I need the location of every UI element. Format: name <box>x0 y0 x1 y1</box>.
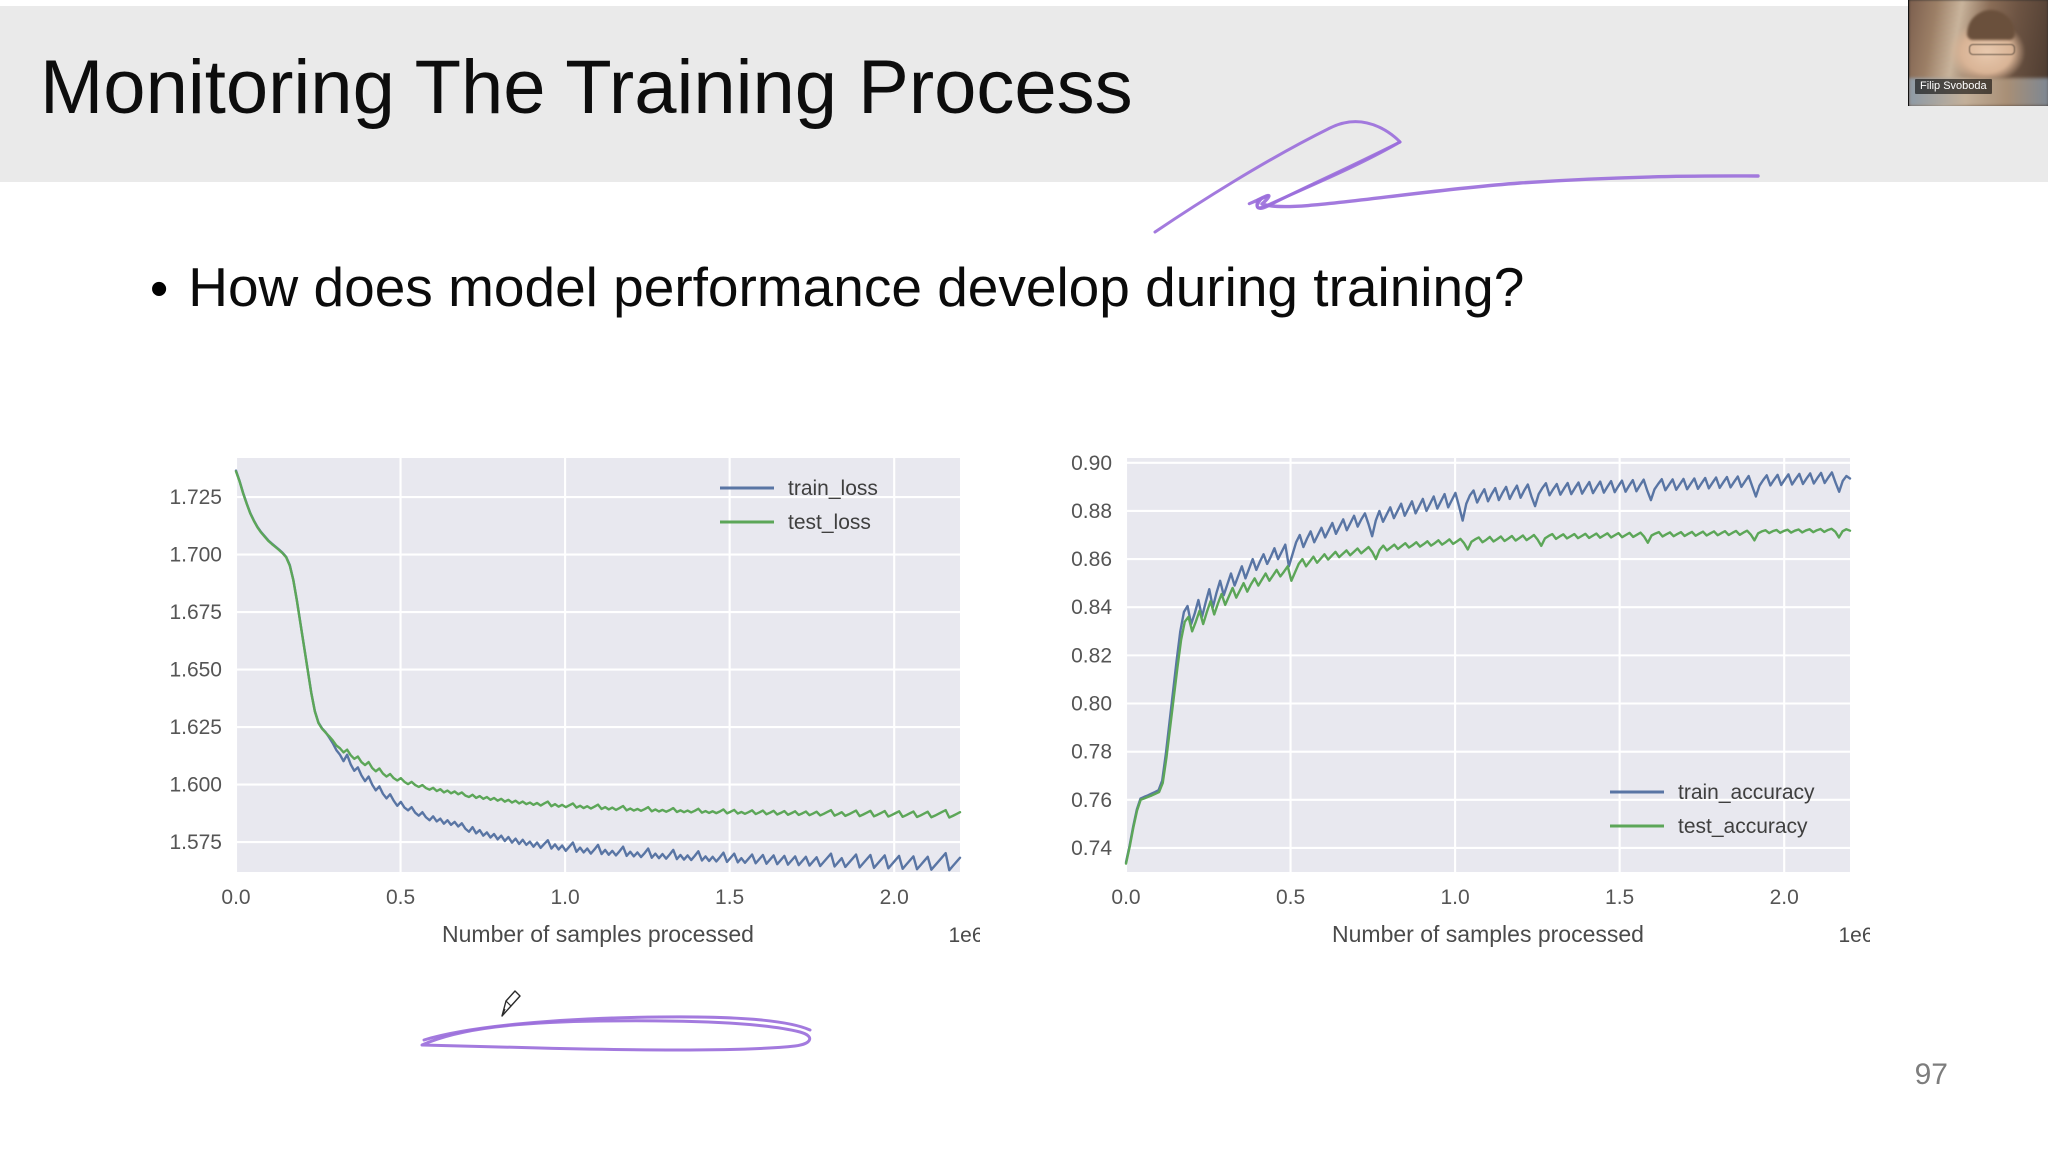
page-number: 97 <box>1915 1058 1948 1092</box>
svg-text:1.625: 1.625 <box>169 716 222 739</box>
svg-text:1.725: 1.725 <box>169 486 222 509</box>
svg-text:1.5: 1.5 <box>1605 886 1634 909</box>
svg-text:0.88: 0.88 <box>1071 500 1112 523</box>
svg-text:test_accuracy: test_accuracy <box>1678 815 1808 838</box>
slide-canvas: Monitoring The Training Process Filip Sv… <box>0 0 2048 1152</box>
loss-x-axis-label: Number of samples processed <box>442 921 754 947</box>
chart-loss: 1.7251.7001.6751.6501.6251.6001.575 0.00… <box>150 440 980 1000</box>
svg-text:0.86: 0.86 <box>1071 548 1112 571</box>
svg-text:1.700: 1.700 <box>169 544 222 567</box>
webcam-participant-name: Filip Svoboda <box>1915 79 1992 94</box>
svg-text:1.600: 1.600 <box>169 774 222 797</box>
accuracy-x-tick-labels: 0.00.51.01.52.0 <box>1111 886 1798 909</box>
accuracy-plot-background <box>1126 458 1850 872</box>
svg-text:train_accuracy: train_accuracy <box>1678 781 1815 804</box>
svg-text:0.5: 0.5 <box>1276 886 1305 909</box>
accuracy-x-axis-multiplier: 1e6 <box>1838 924 1870 947</box>
svg-text:0.80: 0.80 <box>1071 693 1112 716</box>
svg-text:test_loss: test_loss <box>788 511 871 534</box>
loss-chart-svg: 1.7251.7001.6751.6501.6251.6001.575 0.00… <box>150 440 980 1000</box>
svg-text:0.76: 0.76 <box>1071 789 1112 812</box>
title-band: Monitoring The Training Process <box>0 6 2048 182</box>
page-title: Monitoring The Training Process <box>40 44 1133 131</box>
accuracy-x-axis-label: Number of samples processed <box>1332 921 1644 947</box>
accuracy-y-tick-labels: 0.900.880.860.840.820.800.780.760.74 <box>1071 452 1112 860</box>
loss-x-axis-multiplier: 1e6 <box>948 924 980 947</box>
svg-text:1.650: 1.650 <box>169 659 222 682</box>
bullet-marker: • <box>150 263 168 315</box>
bullet-row: • How does model performance develop dur… <box>150 255 1524 319</box>
svg-text:2.0: 2.0 <box>880 886 909 909</box>
svg-text:1.0: 1.0 <box>1440 886 1469 909</box>
svg-text:0.84: 0.84 <box>1071 596 1112 619</box>
svg-text:0.74: 0.74 <box>1071 837 1112 860</box>
pen-cursor-icon <box>498 988 524 1020</box>
svg-text:0.0: 0.0 <box>1111 886 1140 909</box>
svg-text:1.675: 1.675 <box>169 601 222 624</box>
svg-text:2.0: 2.0 <box>1770 886 1799 909</box>
svg-text:0.82: 0.82 <box>1071 644 1112 667</box>
svg-text:0.78: 0.78 <box>1071 741 1112 764</box>
svg-text:0.90: 0.90 <box>1071 452 1112 475</box>
svg-text:0.0: 0.0 <box>221 886 250 909</box>
webcam-overlay[interactable]: Filip Svoboda <box>1908 0 2048 106</box>
accuracy-plot-area <box>1126 458 1850 872</box>
svg-text:1.5: 1.5 <box>715 886 744 909</box>
svg-text:0.5: 0.5 <box>386 886 415 909</box>
loss-y-tick-labels: 1.7251.7001.6751.6501.6251.6001.575 <box>169 486 222 854</box>
svg-text:1.575: 1.575 <box>169 831 222 854</box>
accuracy-chart-svg: 0.900.880.860.840.820.800.780.760.74 0.0… <box>1040 440 1870 1000</box>
svg-text:1.0: 1.0 <box>550 886 579 909</box>
svg-text:train_loss: train_loss <box>788 477 878 500</box>
loss-x-tick-labels: 0.00.51.01.52.0 <box>221 886 908 909</box>
bullet-text: How does model performance develop durin… <box>188 255 1524 319</box>
webcam-person-glasses <box>1969 44 2015 55</box>
chart-accuracy: 0.900.880.860.840.820.800.780.760.74 0.0… <box>1040 440 1870 1000</box>
